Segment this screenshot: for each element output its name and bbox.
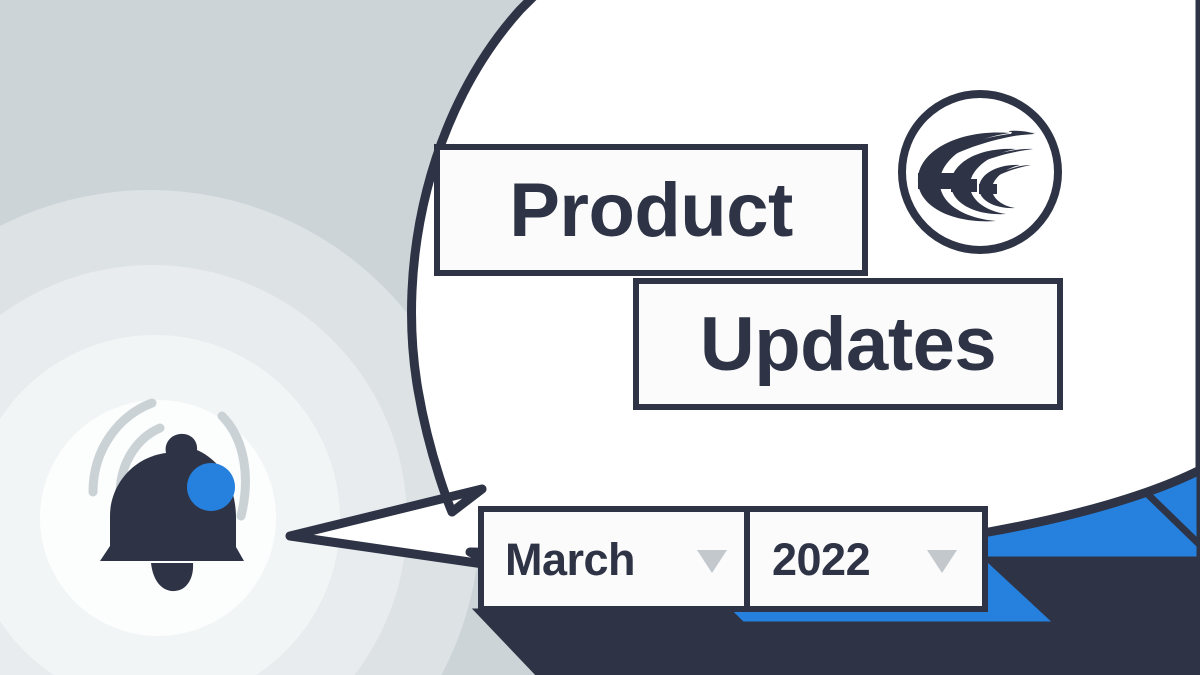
updates-card [636, 281, 1060, 407]
banner-artwork [0, 0, 1200, 675]
product-card [437, 147, 865, 273]
bell-notification-dot [187, 463, 235, 511]
banner-canvas: Product Updates March 2022 [0, 0, 1200, 675]
